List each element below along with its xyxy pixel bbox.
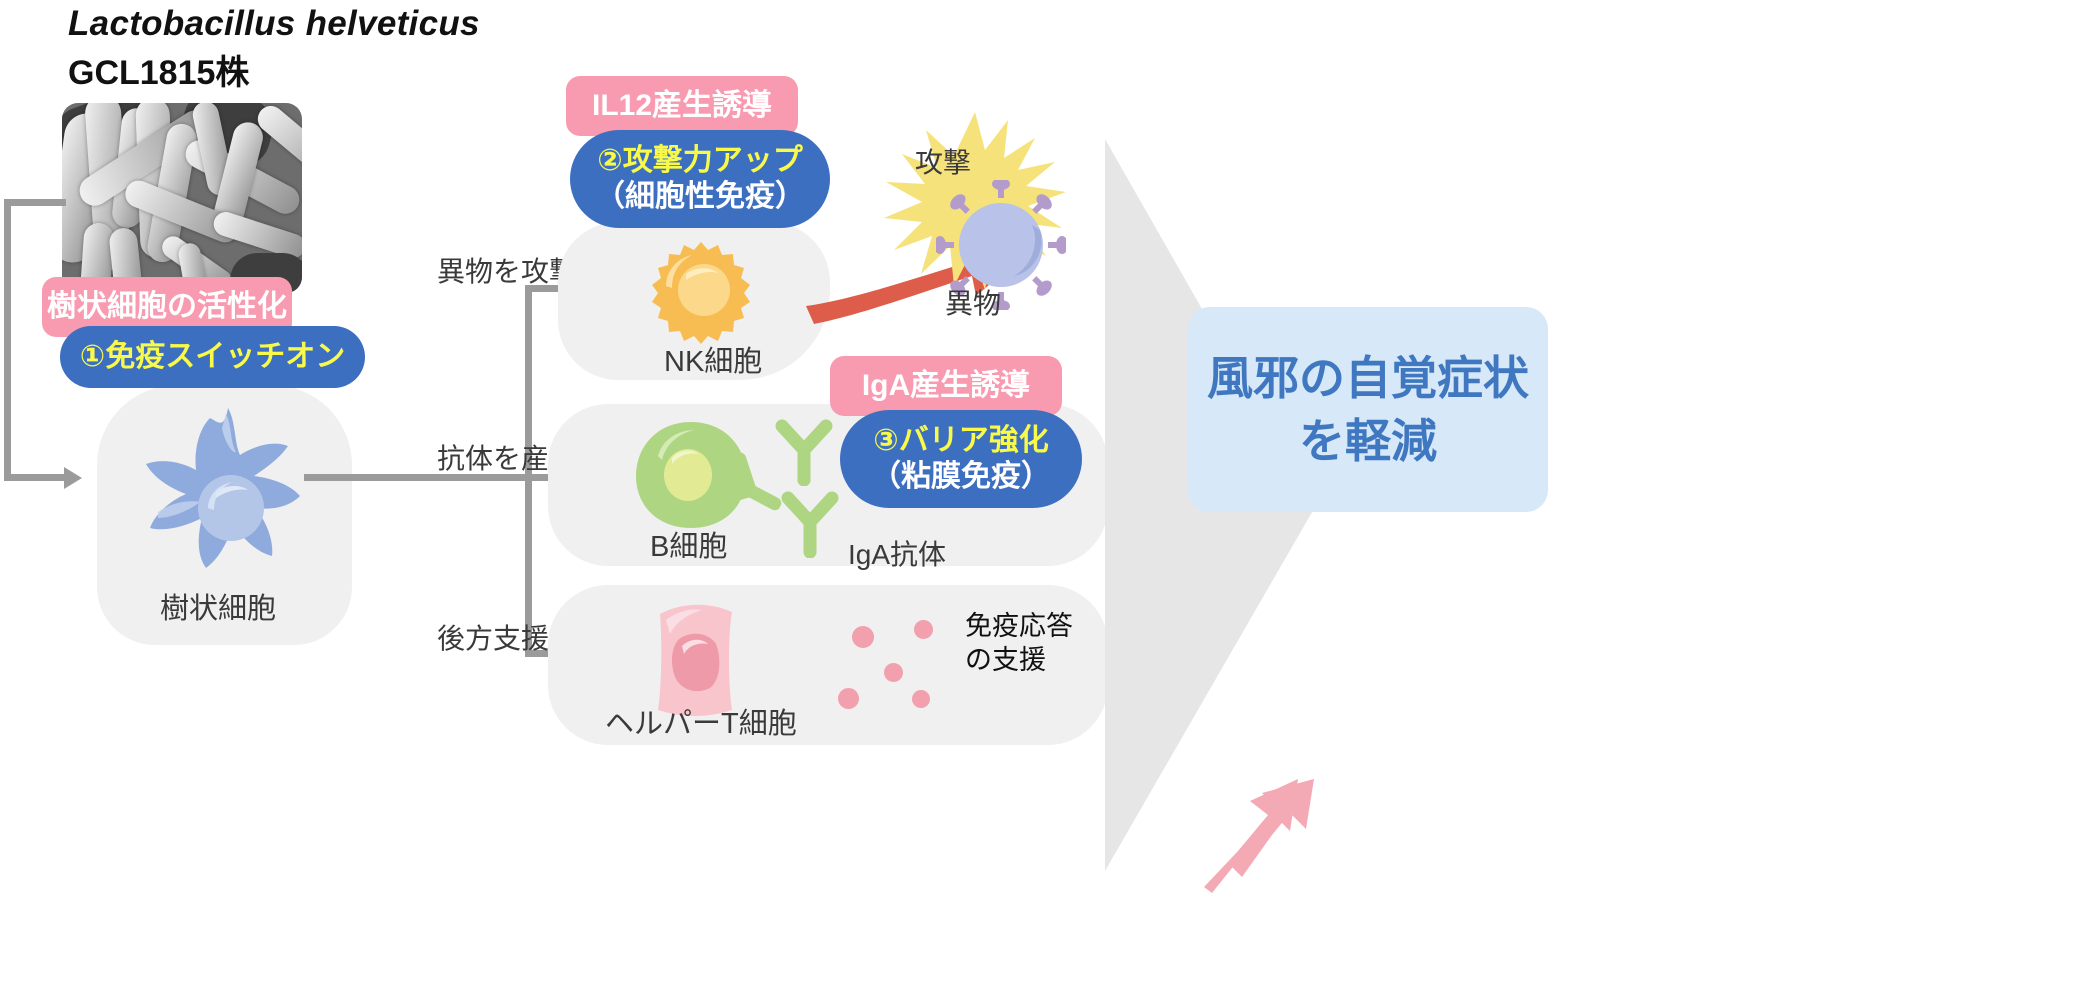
step2-tag: IL12産生誘導 (566, 76, 798, 136)
page-title-strain: GCL1815株 (68, 45, 249, 94)
step2-pill-line1: ②攻撃力アップ (597, 143, 802, 179)
immune-support-line1: 免疫応答 (965, 610, 1073, 644)
b-cell-label: B細胞 (650, 523, 727, 565)
sem-micrograph (62, 103, 302, 293)
cytokine-dot-4 (838, 688, 859, 709)
iga-antibody-icon-3 (778, 490, 842, 558)
connector-dc-arrowhead (64, 467, 82, 489)
cytokine-dot-2 (914, 620, 933, 639)
flow-label-attack: 異物を攻撃 (437, 250, 577, 290)
cytokine-dot-3 (884, 663, 903, 682)
immune-support-line2: の支援 (965, 644, 1073, 678)
step3-tag: IgA産生誘導 (830, 356, 1062, 416)
foreign-body-label: 異物 (945, 282, 1001, 322)
cytokine-dot-1 (852, 626, 874, 648)
result-box: 風邪の自覚症状 を軽減 (1188, 307, 1548, 512)
immune-support-label: 免疫応答 の支援 (965, 610, 1073, 678)
dendritic-cell-icon (128, 400, 328, 590)
cytokine-dot-5 (912, 690, 930, 708)
page-title-species: Lactobacillus helveticus (68, 4, 480, 44)
connector-bacteria-to-dc-horizontal-top (4, 199, 66, 206)
step1-pill-line1: ①免疫スイッチオン (80, 339, 345, 375)
step2-pill: ②攻撃力アップ （細胞性免疫） (570, 130, 830, 228)
nk-cell-icon (648, 240, 754, 346)
step3-pill-line2: （粘膜免疫） (871, 459, 1051, 495)
step2-pill-line2: （細胞性免疫） (595, 179, 805, 215)
step3-pill-line1: ③バリア強化 (873, 423, 1048, 459)
nk-cell-label: NK細胞 (664, 338, 762, 380)
dendritic-cell-label: 樹状細胞 (160, 585, 276, 627)
connector-bacteria-to-dc-horizontal-bottom (4, 474, 66, 481)
attack-burst-label: 攻撃 (915, 141, 971, 181)
flow-label-support: 後方支援 (437, 617, 549, 657)
helper-t-cell-label: ヘルパーT細胞 (605, 700, 797, 742)
iga-antibody-label: IgA抗体 (848, 533, 946, 573)
step3-pill: ③バリア強化 （粘膜免疫） (840, 410, 1082, 508)
connector-bacteria-to-dc-vertical (4, 199, 11, 481)
step1-pill: ①免疫スイッチオン (60, 326, 365, 388)
result-line2: を軽減 (1299, 410, 1437, 472)
result-line1: 風邪の自覚症状 (1207, 347, 1529, 409)
